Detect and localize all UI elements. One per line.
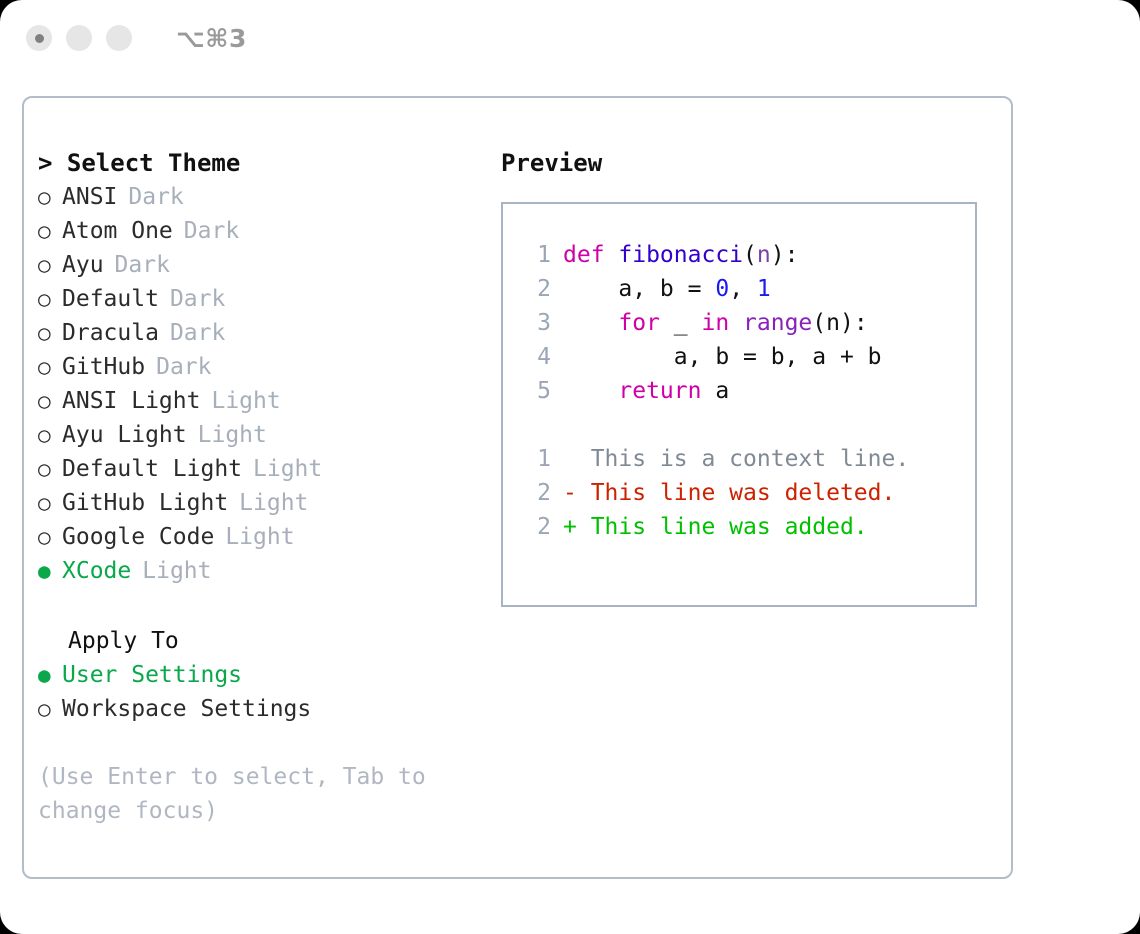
code-line-number: 4 bbox=[517, 340, 563, 374]
theme-option-category: Dark bbox=[159, 282, 225, 316]
code-line-number: 3 bbox=[517, 306, 563, 340]
code-token-punc: (n): bbox=[812, 310, 867, 336]
app-window: ⌥⌘3 > Select Theme ○ANSIDark○Atom OneDar… bbox=[0, 0, 1140, 934]
theme-option-category: Dark bbox=[117, 180, 183, 214]
theme-option-name: Dracula bbox=[62, 316, 159, 350]
theme-option-default[interactable]: ○DefaultDark bbox=[38, 282, 488, 316]
diff-sample: 1 This is a context line.2- This line wa… bbox=[517, 442, 975, 544]
theme-option-atom-one[interactable]: ○Atom OneDark bbox=[38, 214, 488, 248]
theme-option-default-light[interactable]: ○Default LightLight bbox=[38, 452, 488, 486]
title-bar: ⌥⌘3 bbox=[0, 0, 1140, 76]
theme-option-name: GitHub Light bbox=[62, 486, 228, 520]
diff-line-number: 1 bbox=[517, 442, 563, 476]
code-token-punc: ( bbox=[743, 242, 757, 268]
code-line: 5 return a bbox=[517, 374, 975, 408]
theme-option-name: Default Light bbox=[62, 452, 242, 486]
apply-to-list: ●User Settings○Workspace Settings bbox=[38, 658, 488, 726]
diff-text: This line was added. bbox=[577, 514, 868, 540]
theme-option-name: XCode bbox=[62, 554, 131, 588]
code-token-plain: a, b = b, a + b bbox=[563, 344, 882, 370]
code-token-plain: a bbox=[701, 378, 729, 404]
code-token-kw: in bbox=[701, 310, 729, 336]
theme-option-category: Dark bbox=[145, 350, 211, 384]
diff-sign: + bbox=[563, 514, 577, 540]
code-line-content: for _ in range(n): bbox=[563, 306, 868, 340]
theme-option-dracula[interactable]: ○DraculaDark bbox=[38, 316, 488, 350]
theme-option-category: Light bbox=[131, 554, 211, 588]
theme-option-category: Light bbox=[228, 486, 308, 520]
diff-sign: - bbox=[563, 480, 577, 506]
apply-to-section: Apply To ●User Settings○Workspace Settin… bbox=[38, 624, 488, 726]
code-line-number: 2 bbox=[517, 272, 563, 306]
code-spacer bbox=[517, 408, 975, 442]
radio-unselected-icon: ○ bbox=[38, 350, 62, 384]
theme-option-ansi[interactable]: ○ANSIDark bbox=[38, 180, 488, 214]
theme-option-name: ANSI Light bbox=[62, 384, 200, 418]
diff-line-ctx: 1 This is a context line. bbox=[517, 442, 975, 476]
theme-option-ayu[interactable]: ○AyuDark bbox=[38, 248, 488, 282]
theme-option-name: Atom One bbox=[62, 214, 173, 248]
code-token-num: 1 bbox=[757, 276, 771, 302]
theme-option-category: Dark bbox=[159, 316, 225, 350]
code-token-fn: fibonacci bbox=[618, 242, 743, 268]
theme-option-google-code[interactable]: ○Google CodeLight bbox=[38, 520, 488, 554]
code-line: 1def fibonacci(n): bbox=[517, 238, 975, 272]
code-token-kw: for bbox=[618, 310, 660, 336]
code-line: 2 a, b = 0, 1 bbox=[517, 272, 975, 306]
diff-text: This is a context line. bbox=[577, 446, 909, 472]
theme-option-name: Google Code bbox=[62, 520, 214, 554]
theme-option-ayu-light[interactable]: ○Ayu LightLight bbox=[38, 418, 488, 452]
apply-to-heading: Apply To bbox=[38, 624, 488, 658]
titlebar-shortcut-label: ⌥⌘3 bbox=[176, 24, 247, 53]
apply-to-option-workspace-settings[interactable]: ○Workspace Settings bbox=[38, 692, 488, 726]
theme-option-name: GitHub bbox=[62, 350, 145, 384]
radio-unselected-icon: ○ bbox=[38, 418, 62, 452]
diff-line-number: 2 bbox=[517, 510, 563, 544]
code-line-content: a, b = 0, 1 bbox=[563, 272, 771, 306]
preview-column: Preview 1def fibonacci(n):2 a, b = 0, 13… bbox=[501, 146, 1001, 607]
theme-option-xcode[interactable]: ●XCodeLight bbox=[38, 554, 488, 588]
theme-option-github-light[interactable]: ○GitHub LightLight bbox=[38, 486, 488, 520]
code-sample: 1def fibonacci(n):2 a, b = 0, 13 for _ i… bbox=[517, 238, 975, 408]
code-line-number: 5 bbox=[517, 374, 563, 408]
theme-option-ansi-light[interactable]: ○ANSI LightLight bbox=[38, 384, 488, 418]
apply-to-option-label: User Settings bbox=[62, 658, 242, 692]
radio-unselected-icon: ○ bbox=[38, 248, 62, 282]
diff-text: This line was deleted. bbox=[577, 480, 896, 506]
theme-list: ○ANSIDark○Atom OneDark○AyuDark○DefaultDa… bbox=[38, 180, 488, 588]
code-token-plain: a, b = bbox=[563, 276, 715, 302]
code-token-plain: , bbox=[729, 276, 757, 302]
keyboard-hint-text: (Use Enter to select, Tab to change focu… bbox=[38, 760, 448, 828]
window-dot-maximize[interactable] bbox=[106, 25, 132, 51]
diff-line-number: 2 bbox=[517, 476, 563, 510]
main-panel: > Select Theme ○ANSIDark○Atom OneDark○Ay… bbox=[22, 96, 1013, 879]
apply-to-option-label: Workspace Settings bbox=[62, 692, 311, 726]
window-dot-close-inner bbox=[35, 34, 44, 43]
theme-selector-column: > Select Theme ○ANSIDark○Atom OneDark○Ay… bbox=[38, 146, 488, 828]
apply-to-option-user-settings[interactable]: ●User Settings bbox=[38, 658, 488, 692]
code-token-punc: ): bbox=[771, 242, 799, 268]
preview-box: 1def fibonacci(n):2 a, b = 0, 13 for _ i… bbox=[501, 202, 977, 607]
code-token-plain bbox=[563, 310, 618, 336]
theme-option-category: Light bbox=[214, 520, 294, 554]
code-token-kw: return bbox=[618, 378, 701, 404]
theme-option-name: Ayu bbox=[62, 248, 104, 282]
radio-unselected-icon: ○ bbox=[38, 692, 62, 726]
code-token-call: range bbox=[743, 310, 812, 336]
code-line-content: return a bbox=[563, 374, 729, 408]
theme-option-name: Default bbox=[62, 282, 159, 316]
code-line-number: 1 bbox=[517, 238, 563, 272]
radio-unselected-icon: ○ bbox=[38, 214, 62, 248]
theme-option-category: Light bbox=[187, 418, 267, 452]
diff-line-del: 2- This line was deleted. bbox=[517, 476, 975, 510]
radio-unselected-icon: ○ bbox=[38, 316, 62, 350]
code-line: 3 for _ in range(n): bbox=[517, 306, 975, 340]
radio-unselected-icon: ○ bbox=[38, 282, 62, 316]
code-token-plain: _ bbox=[660, 310, 702, 336]
radio-unselected-icon: ○ bbox=[38, 486, 62, 520]
theme-option-category: Light bbox=[242, 452, 322, 486]
theme-option-name: Ayu Light bbox=[62, 418, 187, 452]
diff-line-add: 2+ This line was added. bbox=[517, 510, 975, 544]
window-dot-minimize[interactable] bbox=[66, 25, 92, 51]
diff-line-content: This is a context line. bbox=[563, 442, 909, 476]
diff-line-content: - This line was deleted. bbox=[563, 476, 895, 510]
code-token-kw: def bbox=[563, 242, 618, 268]
diff-line-content: + This line was added. bbox=[563, 510, 868, 544]
radio-unselected-icon: ○ bbox=[38, 180, 62, 214]
code-line-content: def fibonacci(n): bbox=[563, 238, 798, 272]
code-token-plain bbox=[563, 378, 618, 404]
code-token-plain bbox=[729, 310, 743, 336]
code-token-num: 0 bbox=[715, 276, 729, 302]
theme-option-name: ANSI bbox=[62, 180, 117, 214]
radio-selected-icon: ● bbox=[38, 658, 62, 692]
diff-sign bbox=[563, 446, 577, 472]
radio-unselected-icon: ○ bbox=[38, 384, 62, 418]
radio-selected-icon: ● bbox=[38, 554, 62, 588]
radio-unselected-icon: ○ bbox=[38, 452, 62, 486]
radio-unselected-icon: ○ bbox=[38, 520, 62, 554]
select-theme-heading: > Select Theme bbox=[38, 146, 488, 180]
theme-option-category: Light bbox=[200, 384, 280, 418]
theme-option-category: Dark bbox=[173, 214, 239, 248]
code-token-var: n bbox=[757, 242, 771, 268]
preview-heading: Preview bbox=[501, 146, 1001, 180]
window-dot-close[interactable] bbox=[26, 25, 52, 51]
theme-option-category: Dark bbox=[104, 248, 170, 282]
code-line-content: a, b = b, a + b bbox=[563, 340, 882, 374]
code-line: 4 a, b = b, a + b bbox=[517, 340, 975, 374]
theme-option-github[interactable]: ○GitHubDark bbox=[38, 350, 488, 384]
